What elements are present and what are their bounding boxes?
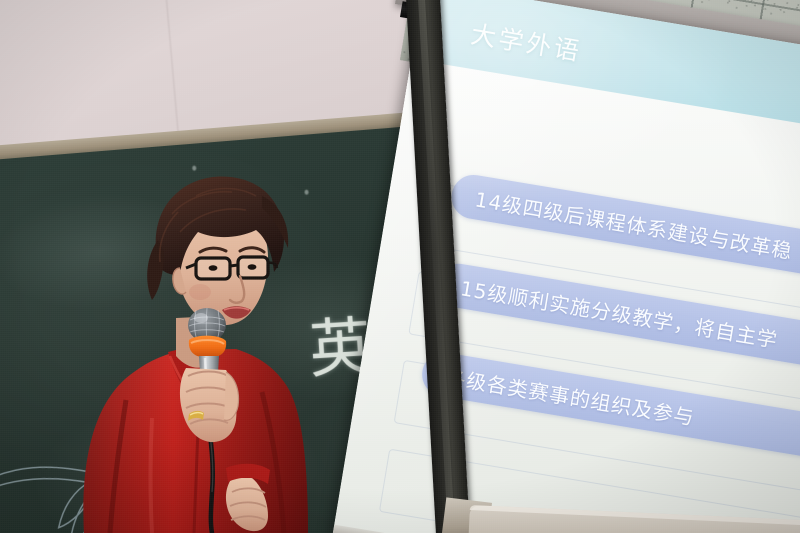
board-mark — [235, 180, 239, 185]
chalk-haze — [0, 183, 213, 320]
podium — [108, 511, 229, 533]
wall-crease — [159, 0, 180, 152]
board-mark — [304, 190, 308, 195]
lecture-photo: 英语 五 — [0, 0, 800, 533]
board-mark — [192, 166, 196, 171]
